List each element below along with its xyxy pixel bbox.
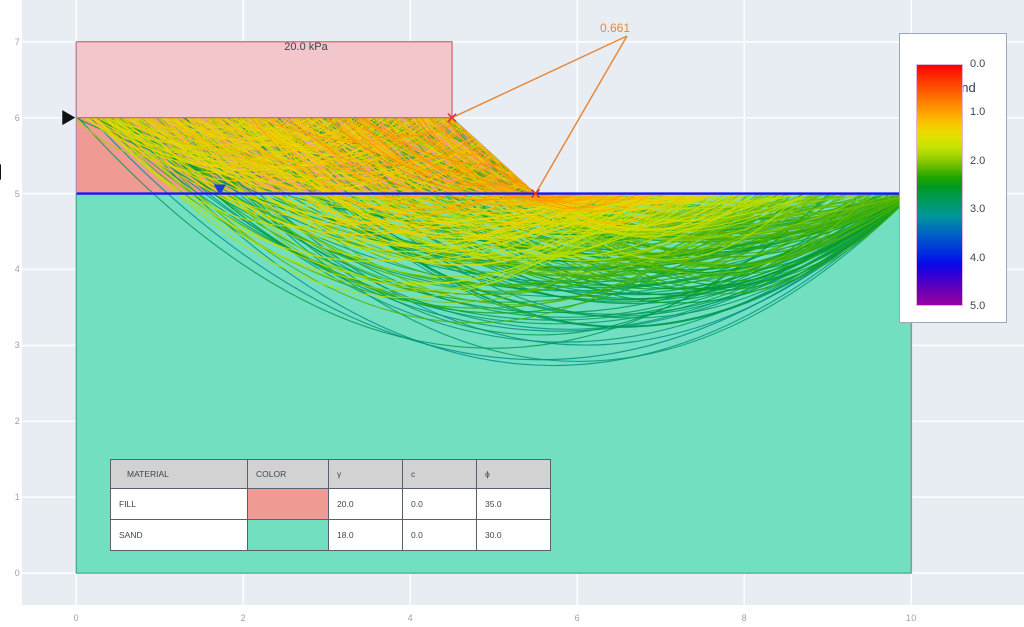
legend-panel: Legend 0.01.02.03.04.05.0 <box>899 33 1007 323</box>
cell-phi: 30.0 <box>477 520 551 551</box>
cell-color-swatch <box>248 520 329 551</box>
legend-colorbar <box>916 64 963 306</box>
cell-color-swatch <box>248 489 329 520</box>
materials-table: MATERIAL COLOR γ c ϕ FILL20.00.035.0SAND… <box>110 459 551 551</box>
table-header-row: MATERIAL COLOR γ c ϕ <box>111 460 551 489</box>
header-color: COLOR <box>248 460 329 489</box>
cell-cohesion: 0.0 <box>403 489 477 520</box>
legend-tick-label: 1.0 <box>970 106 985 118</box>
color-swatch <box>248 489 328 519</box>
legend-tick-label: 2.0 <box>970 155 985 167</box>
cell-material: FILL <box>111 489 248 520</box>
header-material: MATERIAL <box>111 460 248 489</box>
cell-cohesion: 0.0 <box>403 520 477 551</box>
slope-stability-figure: 76543210 0246810 20.0 kPa 0.661 Legend 0… <box>0 0 1024 627</box>
legend-tick-label: 0.0 <box>970 58 985 70</box>
legend-value-pointer <box>0 164 1 180</box>
legend-tick-label: 5.0 <box>970 300 985 312</box>
surcharge-label: 20.0 kPa <box>236 41 376 53</box>
table-row: FILL20.00.035.0 <box>111 489 551 520</box>
factor-of-safety-label: 0.661 <box>600 21 670 35</box>
legend-tick-label: 3.0 <box>970 203 985 215</box>
cell-gamma: 20.0 <box>329 489 403 520</box>
color-swatch <box>248 520 328 550</box>
header-gamma: γ <box>329 460 403 489</box>
header-cohesion: c <box>403 460 477 489</box>
legend-tick-label: 4.0 <box>970 252 985 264</box>
cell-gamma: 18.0 <box>329 520 403 551</box>
table-row: SAND18.00.030.0 <box>111 520 551 551</box>
cell-material: SAND <box>111 520 248 551</box>
cell-phi: 35.0 <box>477 489 551 520</box>
header-phi: ϕ <box>477 460 551 489</box>
